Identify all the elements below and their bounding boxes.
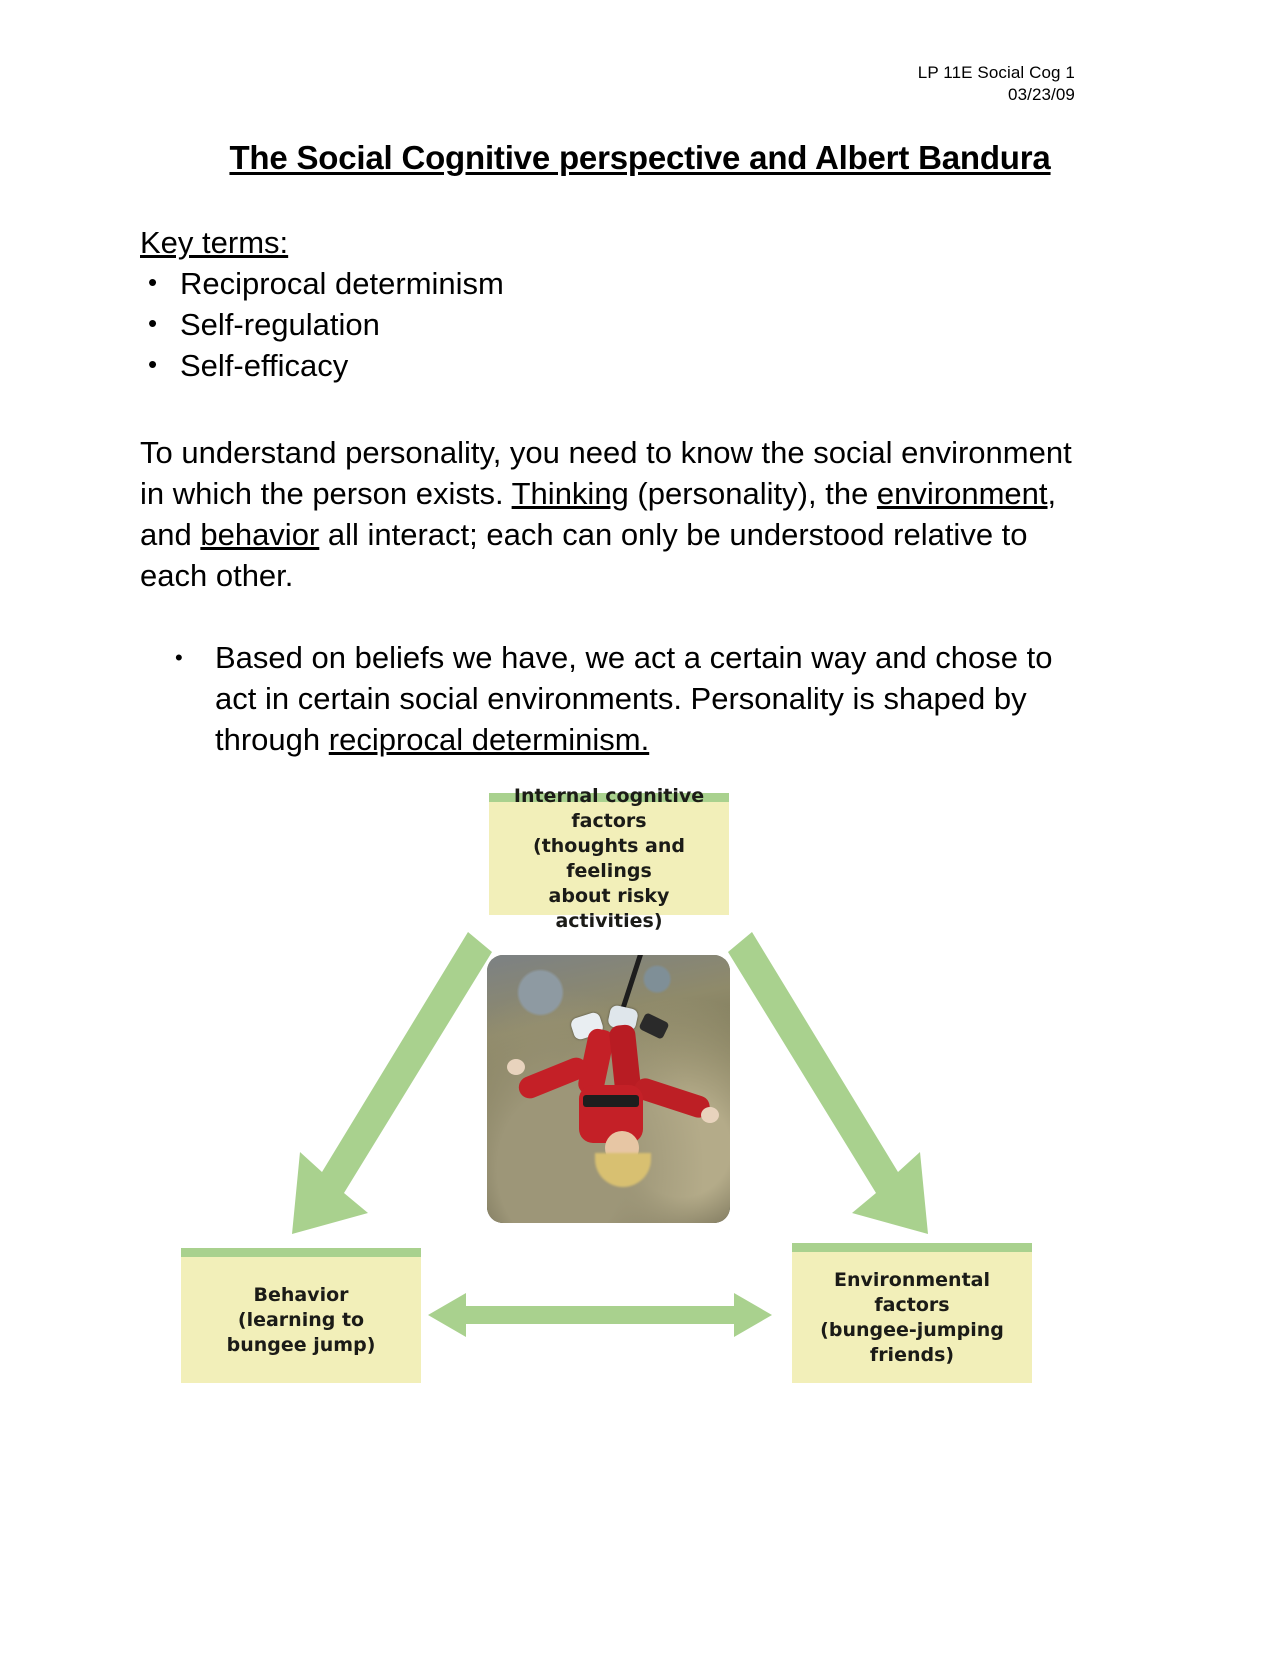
box-line: Behavior xyxy=(253,1283,348,1308)
document-page: LP 11E Social Cog 1 03/23/09 The Social … xyxy=(0,0,1280,1656)
box-line: (thoughts and feelings xyxy=(497,834,721,884)
box-line: factors xyxy=(571,809,646,834)
diagram-box-internal-cognitive-factors: Internal cognitive factors (thoughts and… xyxy=(489,793,729,915)
box-line: bungee jump) xyxy=(227,1333,376,1358)
body-harness xyxy=(583,1095,639,1107)
box-line: about risky activities) xyxy=(497,884,721,934)
box-line: Environmental xyxy=(834,1268,990,1293)
box-line: factors xyxy=(874,1293,949,1318)
arrow-behavior-environment xyxy=(428,1293,772,1337)
bungee-jumper-photo xyxy=(487,955,730,1223)
arrow-cognitive-environment xyxy=(728,932,928,1234)
diagram-box-environmental-factors: Environmental factors (bungee-jumping fr… xyxy=(792,1243,1032,1383)
box-line: Internal cognitive xyxy=(514,784,704,809)
box-line: (learning to xyxy=(238,1308,364,1333)
box-line: (bungee-jumping xyxy=(820,1318,1004,1343)
box-line: friends) xyxy=(870,1343,954,1368)
reciprocal-determinism-diagram: Internal cognitive factors (thoughts and… xyxy=(0,0,1280,1656)
hand-right xyxy=(701,1107,719,1123)
diagram-box-behavior: Behavior (learning to bungee jump) xyxy=(181,1248,421,1383)
arrow-cognitive-behavior xyxy=(292,932,492,1234)
hand-left xyxy=(507,1059,525,1075)
